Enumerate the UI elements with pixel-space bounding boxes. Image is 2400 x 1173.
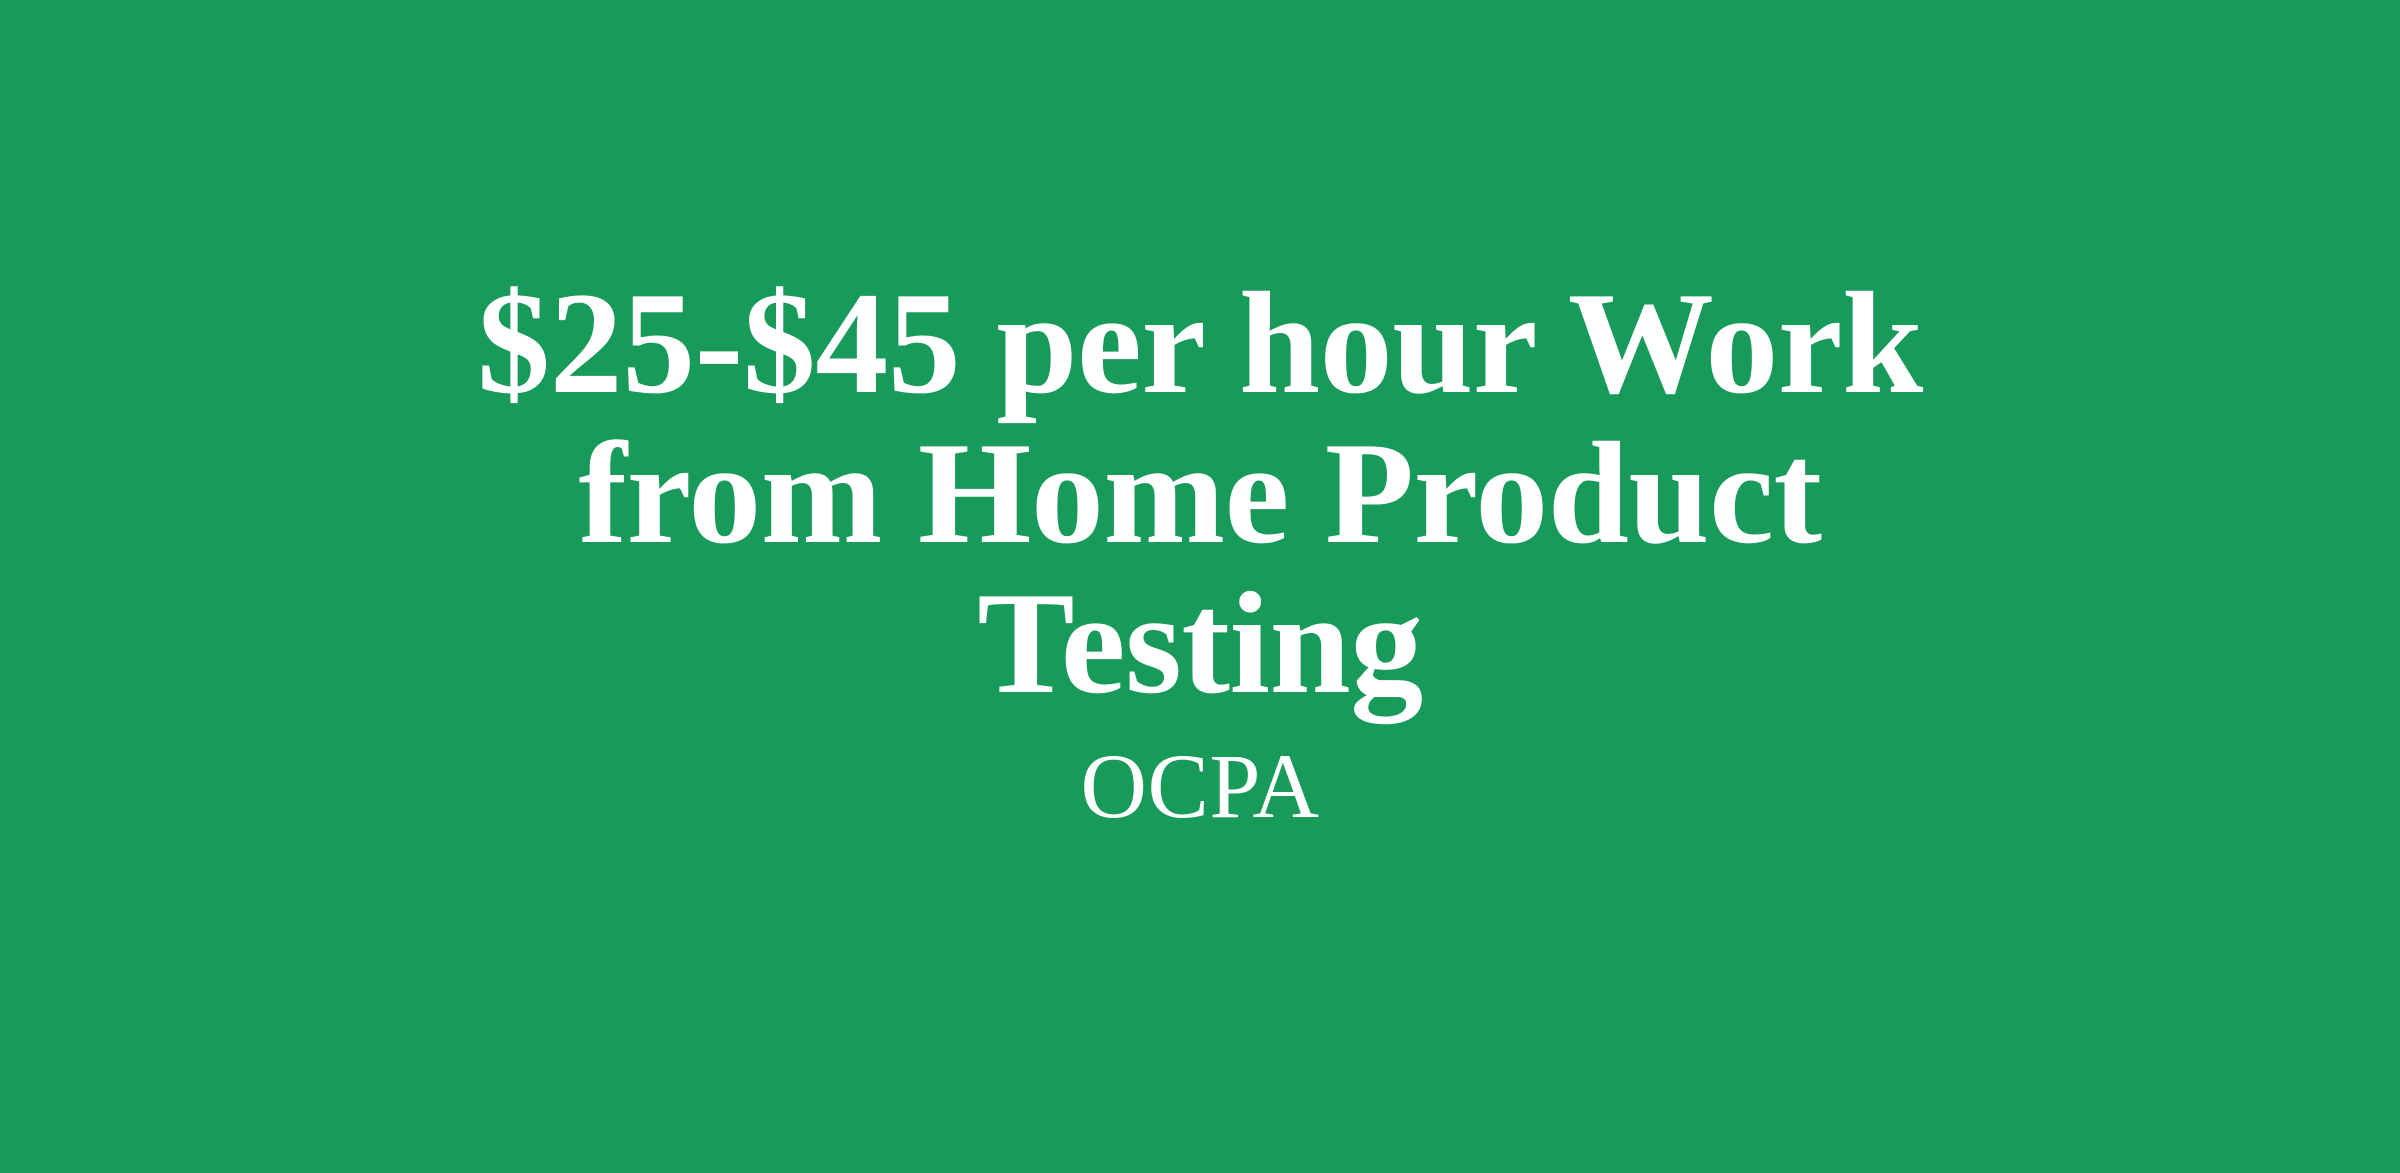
share-card: $25-$45 per hour Work from Home Product … <box>0 0 2400 1173</box>
card-text-block: $25-$45 per hour Work from Home Product … <box>350 268 2050 834</box>
page-title: $25-$45 per hour Work from Home Product … <box>350 268 2050 718</box>
card-subtitle: OCPA <box>350 718 2050 834</box>
